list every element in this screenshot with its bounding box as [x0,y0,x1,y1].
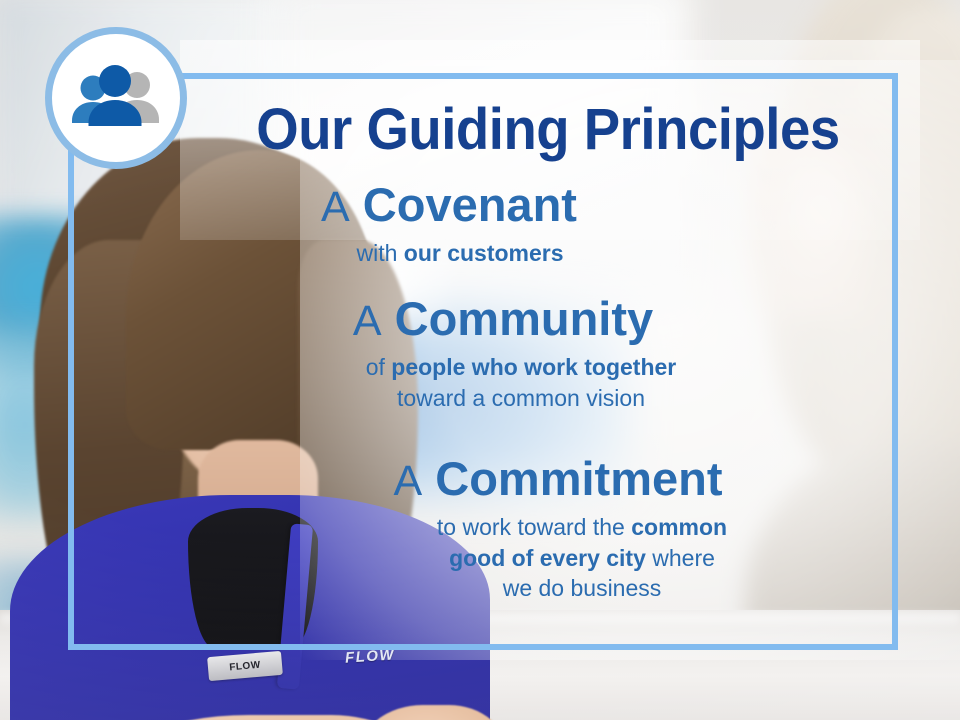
principle-community: A Community of people who work together … [68,295,898,413]
principle-commitment-subtext: to work toward the common good of every … [68,512,898,604]
community-sub-line2: toward a common vision [397,385,645,411]
community-sub-bold: people who work together [391,354,676,380]
covenant-sub-regular: with [356,240,403,266]
principle-community-subtext: of people who work together toward a com… [68,352,898,414]
community-sub-regular: of [366,354,392,380]
covenant-keyword: Covenant [363,178,577,231]
commitment-sub-regular-2: where [646,545,715,571]
principle-community-heading: A Community [68,295,898,344]
commitment-sub-regular-3: we do business [503,575,662,601]
commitment-keyword: Commitment [435,452,722,505]
commitment-sub-bold-2: good of every city [449,545,646,571]
principle-commitment-heading: A Commitment [68,455,898,504]
commitment-sub-regular-1: to work toward the [437,514,631,540]
people-group-icon [66,65,166,131]
principle-covenant-heading: A Covenant [68,181,898,230]
community-keyword: Community [395,292,654,345]
covenant-article: A [321,183,350,231]
covenant-sub-bold: our customers [404,240,564,266]
commitment-article: A [394,457,423,505]
principle-covenant: A Covenant with our customers [68,181,898,269]
principle-commitment: A Commitment to work toward the common g… [68,455,898,604]
principle-covenant-subtext: with our customers [68,238,898,269]
content-area: Our Guiding Principles A Covenant with o… [68,73,898,650]
promotional-banner: FLOW FLOW Our Guiding Principles A Coven… [0,0,960,720]
commitment-sub-bold-1: common [631,514,727,540]
page-title: Our Guiding Principles [238,101,858,159]
people-badge [45,27,187,169]
community-article: A [353,297,382,345]
